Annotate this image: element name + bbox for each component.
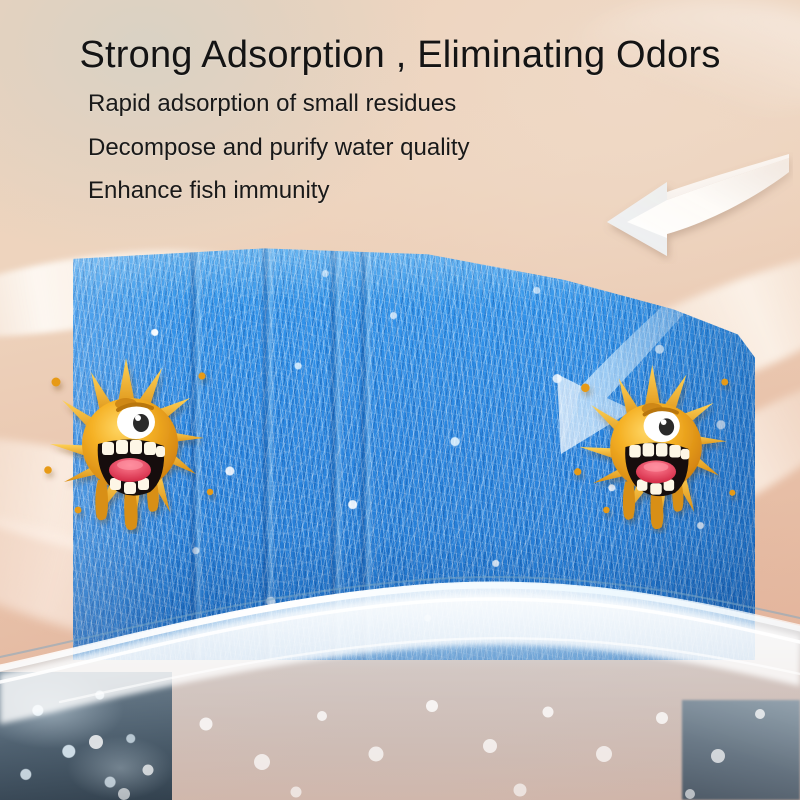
background-dark-slab bbox=[682, 700, 800, 800]
benefit-item-3: Enhance fish immunity bbox=[88, 179, 470, 204]
benefit-item-2: Decompose and purify water quality bbox=[88, 136, 470, 161]
white-curved-arrow-icon bbox=[597, 152, 793, 264]
page-title: Strong Adsorption , Eliminating Odors bbox=[0, 33, 800, 78]
angry-germ-right bbox=[572, 358, 740, 534]
submerged-dark-water bbox=[0, 672, 172, 800]
product-banner: Strong Adsorption , Eliminating Odors Ra… bbox=[0, 0, 800, 800]
angry-germ-left bbox=[42, 352, 218, 534]
benefit-list: Rapid adsorption of small residues Decom… bbox=[88, 92, 470, 223]
benefit-item-1: Rapid adsorption of small residues bbox=[88, 92, 470, 117]
